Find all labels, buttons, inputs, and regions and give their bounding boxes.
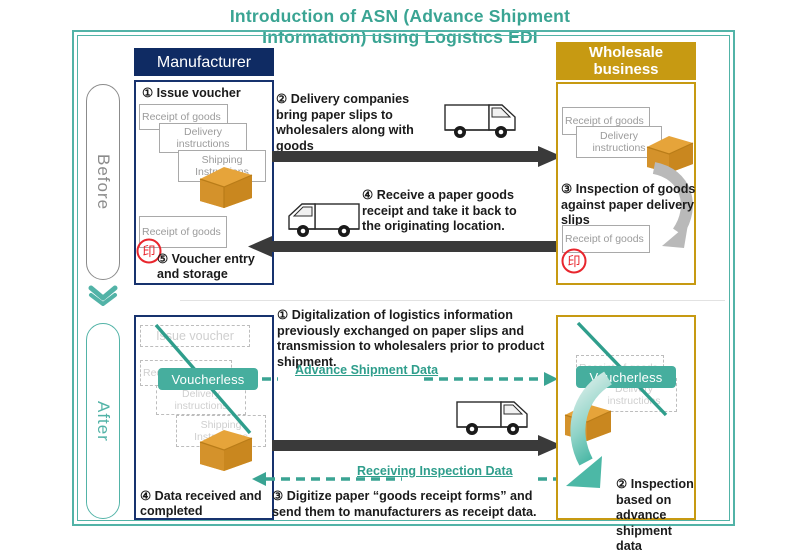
slip-delivery-instructions: Delivery instructions: [159, 123, 247, 153]
voucherless-badge-manufacturer: Voucherless: [158, 368, 258, 390]
package-box-icon-after-manufacturer: [198, 428, 254, 472]
column-header-wholesale: Wholesale business: [556, 42, 696, 80]
diagram-canvas: Introduction of ASN (Advance Shipment In…: [0, 0, 800, 533]
package-box-icon: [198, 165, 254, 209]
down-chevron-icon: [89, 286, 117, 306]
svg-text:印: 印: [567, 255, 580, 270]
row-label-after: After: [86, 323, 120, 519]
before-step2-text: ② Delivery companies bring paper slips t…: [276, 92, 431, 154]
before-step1-issue-voucher: ① Issue voucher: [142, 86, 272, 101]
row-label-before: Before: [86, 84, 120, 280]
truck-icon-top: [443, 99, 521, 143]
svg-text:印: 印: [142, 245, 155, 260]
advance-shipment-data-label: Advance Shipment Data: [295, 363, 438, 377]
before-step3-text: ③ Inspection of goods against paper deli…: [561, 182, 697, 229]
truck-icon-after: [455, 396, 533, 440]
red-seal-icon-wholesale: 印: [561, 248, 587, 274]
after-arrow-to-wholesale: [272, 435, 562, 457]
receiving-inspection-data-label: Receiving Inspection Data: [357, 464, 513, 478]
after-step2-text: ② Inspection based on advance shipment d…: [616, 477, 698, 555]
before-arrow-to-wholesale: [272, 146, 562, 168]
column-header-manufacturer: Manufacturer: [134, 48, 274, 76]
row-label-before-text: Before: [93, 154, 113, 210]
after-step3-text: ③ Digitize paper “goods receipt forms” a…: [272, 489, 557, 520]
row-label-after-text: After: [93, 401, 113, 442]
before-arrow-to-manufacturer: [247, 236, 562, 258]
after-step4-text: ④ Data received and completed: [140, 489, 264, 519]
row-divider: [180, 300, 725, 301]
before-step4-text: ④ Receive a paper goods receipt and take…: [362, 188, 522, 235]
after-step1-text: ① Digitalization of logistics informatio…: [277, 308, 547, 370]
